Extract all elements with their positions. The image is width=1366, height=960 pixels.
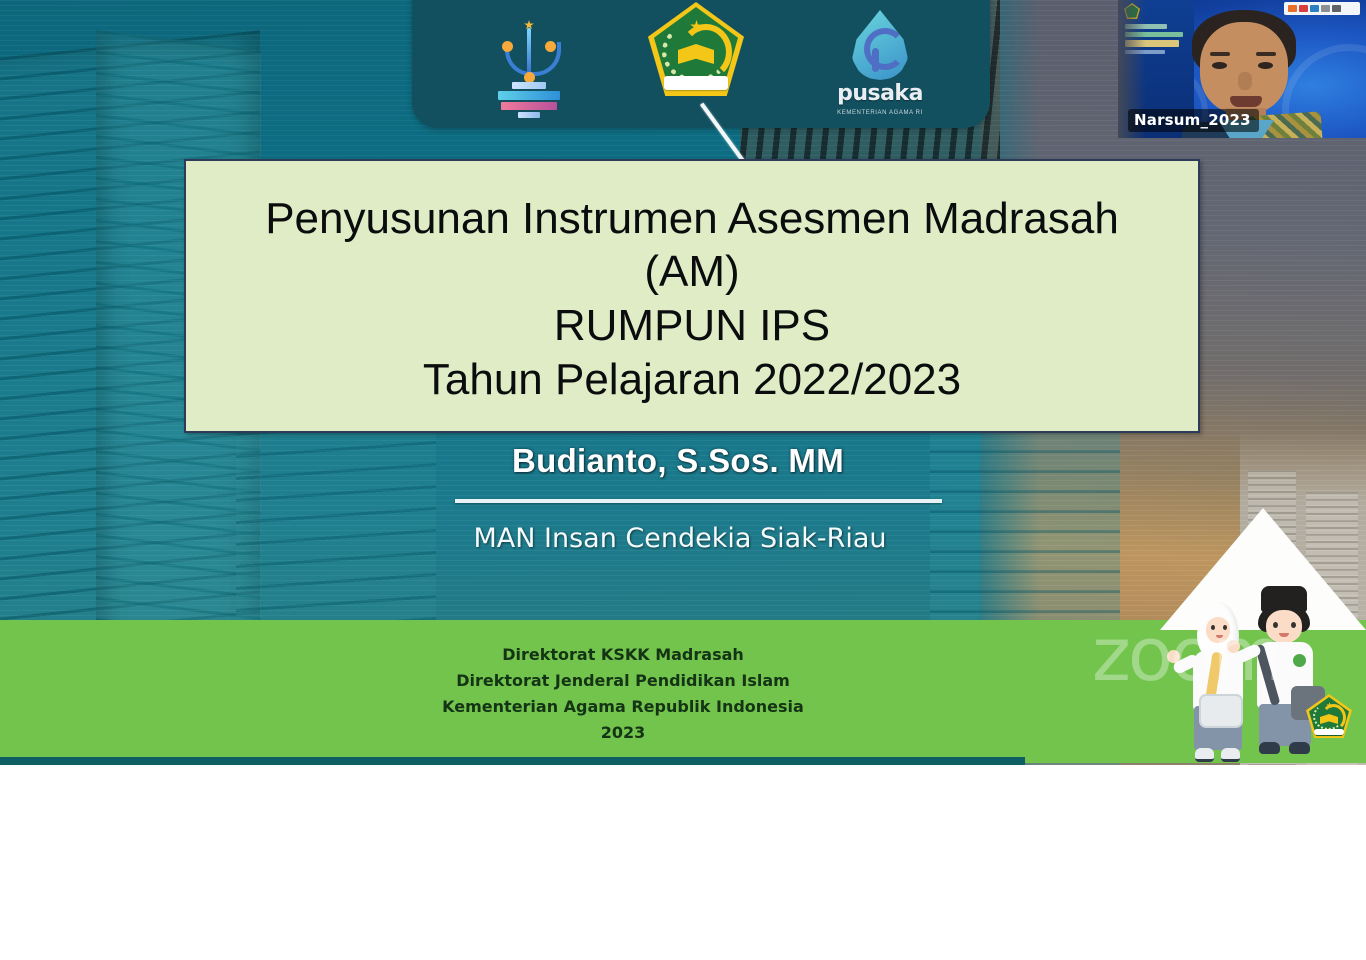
tahun-toleransi-emblem [501, 20, 557, 84]
mouth-shape [1230, 96, 1262, 107]
eyebrow-right [1256, 52, 1276, 56]
ribbon-icon [1314, 729, 1344, 735]
shoe-right [1289, 742, 1310, 754]
presenter-name: Budianto, S.Sos. MM [0, 442, 1366, 480]
pentagon-shape [1306, 694, 1352, 738]
tahun-toleransi-logo [490, 16, 568, 120]
eye-right [1258, 62, 1273, 69]
shoe-left [1195, 748, 1214, 762]
participant-name-badge: Narsum_2023 [1128, 109, 1259, 132]
presenter-divider [455, 499, 942, 503]
swirl-tail-shape [872, 48, 879, 72]
eye-right [1291, 622, 1296, 628]
bag-shape [1199, 694, 1243, 728]
nose-shape [1238, 72, 1252, 90]
peci-cap-icon [1261, 586, 1307, 612]
eye-left [1212, 62, 1227, 69]
slide-title-line-1: Penyusunan Instrumen Asesmen Madrasah [265, 192, 1119, 246]
pusaka-wordmark: pusaka [837, 81, 923, 106]
slide-title-card: Penyusunan Instrumen Asesmen Madrasah (A… [184, 159, 1200, 433]
swirl-shape [864, 28, 906, 70]
dot-left-icon [502, 41, 513, 52]
meeting-empty-area [0, 765, 1366, 960]
shoe-left [1259, 742, 1280, 754]
slide-title-line-3: RUMPUN IPS [554, 299, 830, 353]
slide-title-line-2: (AM) [644, 245, 739, 299]
dot-right-icon [545, 41, 556, 52]
slide-logo-banner: pusaka KEMENTERIAN AGAMA RI [412, 0, 990, 128]
kemenag-logo-small [1124, 3, 1140, 19]
footer-line-4: 2023 [0, 720, 1306, 746]
shoe-right [1221, 748, 1240, 762]
tahun-toleransi-wordmark [498, 82, 560, 120]
pusaka-subtext: KEMENTERIAN AGAMA RI [837, 110, 923, 116]
presenter-organization: MAN Insan Cendekia Siak-Riau [0, 523, 1366, 554]
footer-kemenag-logo [1306, 694, 1352, 740]
ribbon-icon [664, 76, 728, 90]
uniform-badge-icon [1293, 654, 1306, 667]
pentagon-shape [648, 2, 744, 96]
participant-video-tile[interactable]: Narsum_2023 [1118, 0, 1366, 138]
slide-bottom-edge-strip [0, 757, 1025, 765]
slide-presenter-block: Budianto, S.Sos. MM MAN Insan Cendekia S… [0, 442, 1366, 554]
meeting-window: pusaka KEMENTERIAN AGAMA RI Penyusunan I… [0, 0, 1366, 960]
kemenag-logo [644, 2, 748, 112]
pusaka-logo: pusaka KEMENTERIAN AGAMA RI [832, 10, 928, 120]
slide-title-line-4: Tahun Pelajaran 2022/2023 [423, 353, 961, 407]
droplet-icon [852, 10, 908, 80]
zoom-watermark: zoom [1092, 618, 1281, 692]
eyebrow-left [1210, 52, 1230, 56]
